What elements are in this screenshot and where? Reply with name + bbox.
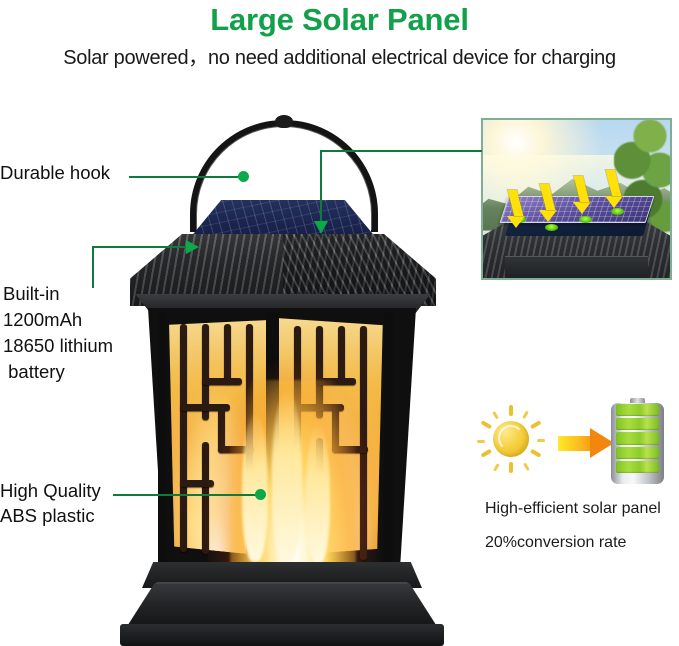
conversion-arrow-icon bbox=[558, 428, 614, 458]
flame-tongue bbox=[272, 388, 302, 564]
leader-line-abs bbox=[113, 494, 261, 496]
lantern-base-mid bbox=[126, 584, 438, 628]
product-lantern-illustration bbox=[118, 112, 448, 632]
lantern-hook-knot bbox=[275, 115, 293, 128]
sun-core bbox=[493, 421, 529, 457]
callout-label-abs-plastic: High Quality ABS plastic bbox=[0, 478, 101, 528]
lantern-frame-post-right bbox=[384, 312, 393, 564]
lattice-bar bbox=[180, 324, 187, 552]
sunlight-arrow-icon bbox=[511, 190, 521, 228]
sunlight-hit-marker bbox=[579, 216, 592, 223]
lantern-base-highlight bbox=[130, 582, 434, 584]
leader-line-inset-vertical bbox=[320, 150, 322, 228]
leader-line-battery-horizontal bbox=[92, 246, 196, 248]
infographic-page: Large Solar Panel Solar powered，no need … bbox=[0, 0, 679, 646]
battery-cell bbox=[616, 432, 659, 444]
leader-dot-hook bbox=[238, 171, 249, 182]
sunlight-arrow-icon bbox=[609, 170, 619, 208]
flame-tongue bbox=[306, 424, 330, 564]
page-title: Large Solar Panel bbox=[0, 2, 679, 38]
battery-cells bbox=[616, 404, 659, 473]
battery-cell bbox=[616, 447, 659, 459]
page-subtitle: Solar powered，no need additional electri… bbox=[0, 41, 679, 70]
battery-cell bbox=[616, 461, 659, 473]
leader-line-hook bbox=[129, 176, 245, 178]
leader-arrow-battery bbox=[186, 240, 199, 254]
sunlight-hit-marker bbox=[545, 224, 558, 231]
sunlight-arrow-icon bbox=[543, 184, 553, 222]
sun-icon bbox=[476, 404, 546, 474]
flame-tongue bbox=[242, 412, 268, 562]
callout-label-battery: Built-in 1200mAh 18650 lithium battery bbox=[3, 281, 113, 385]
leader-arrow-inset bbox=[314, 221, 328, 234]
callout-label-durable-hook: Durable hook bbox=[0, 161, 110, 184]
inset-lantern-body bbox=[505, 256, 647, 280]
battery-cell bbox=[616, 404, 659, 416]
sunlight-hit-marker bbox=[611, 208, 624, 215]
efficiency-label-line1: High-efficient solar panel bbox=[485, 500, 661, 518]
lantern-frame-post-left bbox=[158, 312, 167, 564]
battery-cell bbox=[616, 418, 659, 430]
efficiency-label-line2: 20%conversion rate bbox=[485, 534, 626, 552]
lantern-base-foot bbox=[120, 624, 444, 646]
leader-line-inset-horizontal bbox=[320, 150, 482, 152]
battery-icon bbox=[611, 398, 664, 484]
leader-dot-abs bbox=[255, 489, 266, 500]
solar-panel-inset-photo bbox=[481, 118, 672, 280]
sunlight-arrow-icon bbox=[577, 176, 587, 214]
